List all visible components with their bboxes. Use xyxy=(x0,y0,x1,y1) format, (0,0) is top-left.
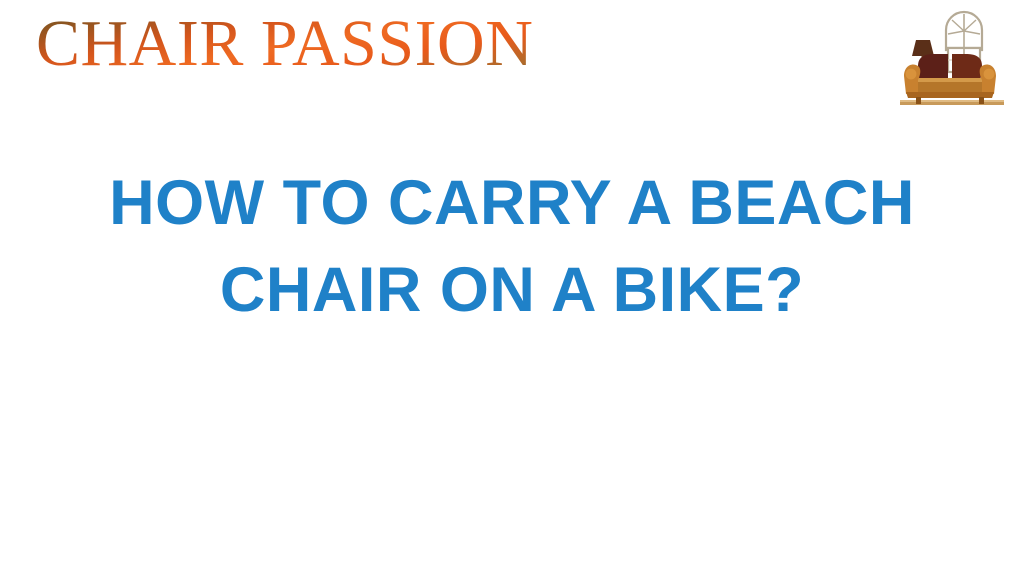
brand-wordmark[interactable]: CHAIR PASSION xyxy=(36,8,533,80)
floor-line xyxy=(900,100,1004,105)
content-area xyxy=(0,340,1024,576)
page-root: CHAIR PASSION xyxy=(0,0,1024,576)
page-title-line-1: HOW TO CARRY A BEACH xyxy=(0,160,1024,247)
page-title-line-2: CHAIR ON A BIKE? xyxy=(0,247,1024,334)
page-title: HOW TO CARRY A BEACH CHAIR ON A BIKE? xyxy=(0,160,1024,334)
site-header: CHAIR PASSION xyxy=(0,0,1024,120)
sofa-lamp-window-icon[interactable] xyxy=(894,4,1010,114)
